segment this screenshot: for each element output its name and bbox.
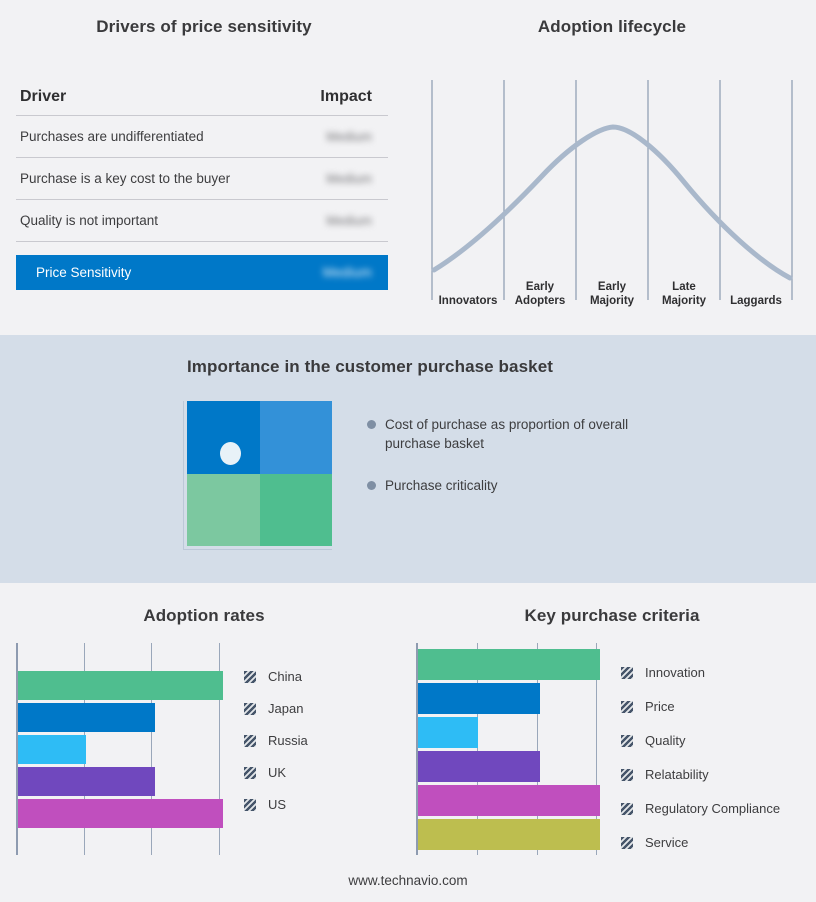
total-label: Price Sensitivity (36, 265, 131, 280)
legend-item: Japan (244, 701, 303, 716)
bar-slot (418, 749, 600, 783)
total-impact-value-redacted: Medium (323, 265, 388, 280)
legend-label: Quality (645, 733, 685, 748)
table-row: Purchases are undifferentiated Medium (16, 116, 388, 158)
bar-slot (18, 733, 223, 765)
legend-item: Quality (621, 733, 685, 748)
footer-url: www.technavio.com (0, 873, 816, 888)
purchase-basket-panel: Importance in the customer purchase bask… (0, 335, 816, 583)
legend-label: China (268, 669, 302, 684)
quadrant-top-right (260, 401, 333, 474)
adoption-bars (18, 643, 223, 855)
bar-slot (18, 701, 223, 733)
legend-swatch-icon (244, 671, 256, 683)
legend-label: Russia (268, 733, 308, 748)
driver-label: Purchase is a key cost to the buyer (20, 171, 230, 186)
bar-slot (18, 669, 223, 701)
bar (18, 799, 223, 828)
legend-item: Service (621, 835, 688, 850)
impact-value-redacted: Medium (326, 172, 388, 186)
table-row: Quality is not important Medium (16, 200, 388, 242)
legend-swatch-icon (621, 735, 633, 747)
bar (418, 819, 600, 850)
legend-label: Innovation (645, 665, 705, 680)
bar-slot (418, 647, 600, 681)
legend-swatch-icon (621, 701, 633, 713)
impact-value-redacted: Medium (326, 214, 388, 228)
legend-label: UK (268, 765, 286, 780)
bell-curve-path (434, 127, 790, 278)
legend-label: Cost of purchase as proportion of overal… (385, 415, 650, 453)
bar-slot (18, 797, 223, 829)
quadrant-bottom-left (187, 474, 260, 547)
legend-swatch-icon (621, 769, 633, 781)
bar (18, 671, 223, 700)
impact-value-redacted: Medium (326, 130, 388, 144)
driver-label: Quality is not important (20, 213, 158, 228)
legend-label: US (268, 797, 286, 812)
key-purchase-criteria-chart: InnovationPriceQualityRelatabilityRegula… (416, 643, 796, 855)
legend-label: Regulatory Compliance (645, 801, 780, 816)
drivers-panel: Drivers of price sensitivity Driver Impa… (0, 0, 408, 335)
legend-swatch-icon (244, 799, 256, 811)
bar (18, 767, 155, 796)
legend-label: Service (645, 835, 688, 850)
quadrant-marker-dot (220, 442, 241, 465)
bar (418, 683, 540, 714)
legend-swatch-icon (244, 735, 256, 747)
key-purchase-criteria-panel: Key purchase criteria InnovationPriceQua… (408, 583, 816, 902)
bar (418, 649, 600, 680)
bullet-dot-icon (367, 420, 376, 429)
legend-item: UK (244, 765, 286, 780)
legend-label: Relatability (645, 767, 709, 782)
table-row: Purchase is a key cost to the buyer Medi… (16, 158, 388, 200)
lifecycle-title: Adoption lifecycle (408, 17, 816, 37)
driver-label: Purchases are undifferentiated (20, 129, 204, 144)
legend-item: Innovation (621, 665, 705, 680)
legend-item: Cost of purchase as proportion of overal… (367, 415, 697, 453)
quadrant-graphic (183, 401, 332, 550)
legend-item: Regulatory Compliance (621, 801, 780, 816)
bell-curve-svg (430, 80, 795, 312)
legend-item: Russia (244, 733, 308, 748)
drivers-table: Driver Impact Purchases are undifferenti… (16, 88, 388, 290)
table-row-total-price-sensitivity: Price Sensitivity Medium (16, 255, 388, 290)
bar-slot (418, 681, 600, 715)
legend-label: Purchase criticality (385, 476, 498, 495)
bullet-dot-icon (367, 481, 376, 490)
legend-item: Price (621, 699, 675, 714)
legend-item: US (244, 797, 286, 812)
legend-swatch-icon (244, 703, 256, 715)
legend-item: China (244, 669, 302, 684)
bar-slot (418, 817, 600, 851)
adoption-rates-panel: Adoption rates ChinaJapanRussiaUKUS (0, 583, 408, 902)
criteria-bars (418, 643, 600, 855)
drivers-title: Drivers of price sensitivity (0, 17, 408, 37)
adoption-rates-chart: ChinaJapanRussiaUKUS (16, 643, 386, 855)
basket-legend: Cost of purchase as proportion of overal… (367, 415, 697, 518)
column-header-impact: Impact (320, 88, 388, 106)
adoption-title: Adoption rates (0, 606, 408, 626)
adoption-plot-area (16, 643, 223, 855)
bar-slot (418, 715, 600, 749)
table-header-row: Driver Impact (16, 88, 388, 116)
legend-item: Purchase criticality (367, 476, 697, 495)
column-header-driver: Driver (20, 88, 66, 106)
bar-slot (18, 765, 223, 797)
legend-swatch-icon (621, 667, 633, 679)
bar (418, 785, 600, 816)
quadrant-bottom-right (260, 474, 333, 547)
legend-label: Price (645, 699, 675, 714)
bar (418, 717, 478, 748)
lifecycle-chart: Innovators Early Adopters Early Majority… (430, 80, 795, 312)
criteria-title: Key purchase criteria (408, 606, 816, 626)
legend-swatch-icon (244, 767, 256, 779)
legend-swatch-icon (621, 803, 633, 815)
bar (18, 703, 155, 732)
criteria-plot-area (416, 643, 600, 855)
legend-swatch-icon (621, 837, 633, 849)
bar (18, 735, 86, 764)
legend-label: Japan (268, 701, 303, 716)
adoption-lifecycle-panel: Adoption lifecycle Innovators Early Adop… (408, 0, 816, 335)
basket-title: Importance in the customer purchase bask… (0, 357, 740, 377)
bar-slot (418, 783, 600, 817)
legend-item: Relatability (621, 767, 709, 782)
lifecycle-gridlines (432, 80, 792, 300)
bar (418, 751, 540, 782)
